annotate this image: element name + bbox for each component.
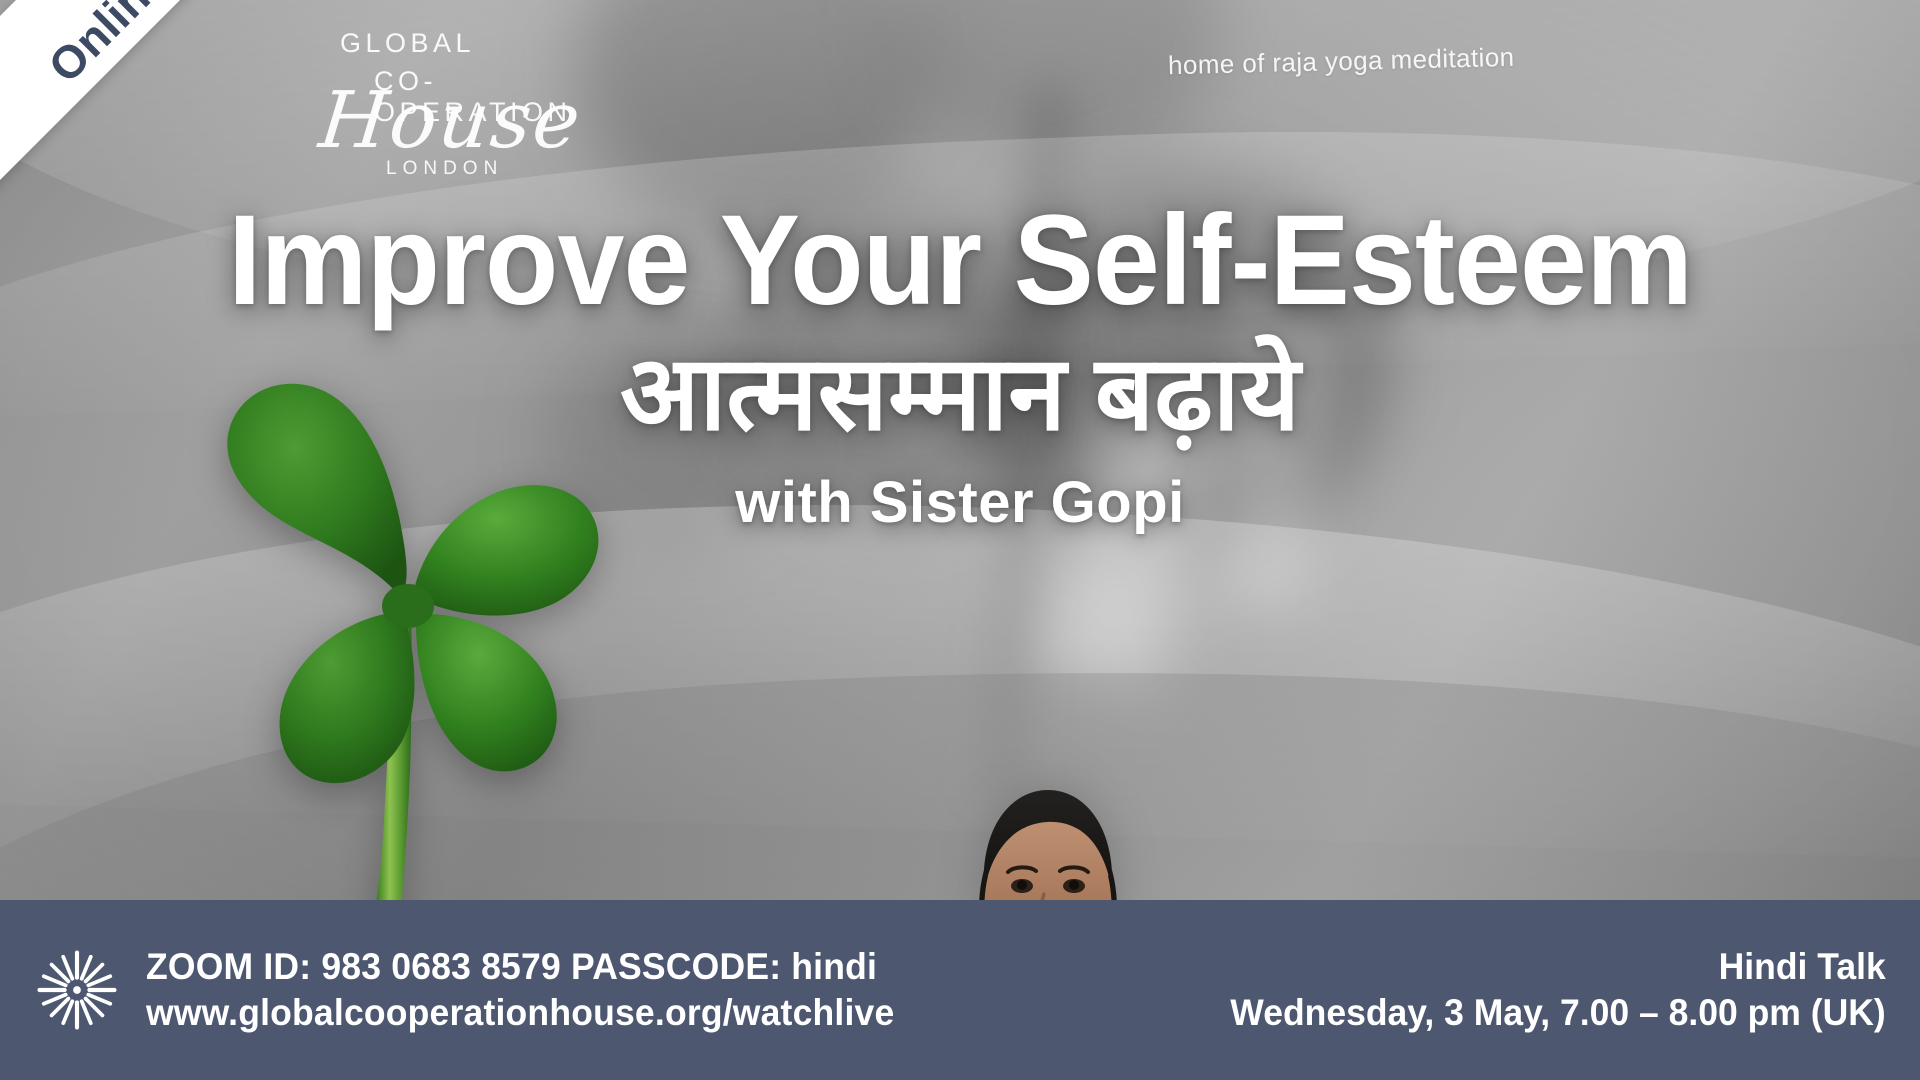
footer-right-group: Hindi Talk Wednesday, 3 May, 7.00 – 8.00…: [1203, 946, 1920, 1034]
sunburst-icon: [34, 947, 120, 1033]
website-url[interactable]: www.globalcooperationhouse.org/watchlive: [146, 992, 894, 1034]
zoom-details: ZOOM ID: 983 0683 8579 PASSCODE: hindi: [146, 946, 894, 988]
title-hindi: आत्मसम्मान बढ़ाये: [0, 333, 1920, 456]
footer-left-group: ZOOM ID: 983 0683 8579 PASSCODE: hindi w…: [0, 946, 926, 1034]
logo-line-london: LONDON: [386, 158, 503, 180]
headline-block: Improve Your Self-Esteem आत्मसम्मान बढ़ा…: [0, 196, 1920, 536]
logo-line-global: GLOBAL: [340, 28, 475, 59]
presenter-name: with Sister Gopi: [0, 469, 1920, 536]
brand-logo: GLOBAL CO-OPERATION House LONDON: [330, 24, 630, 174]
event-poster: Online GLOBAL CO-OPERATION House LONDON …: [0, 0, 1920, 1080]
footer-text-lines: ZOOM ID: 983 0683 8579 PASSCODE: hindi w…: [146, 946, 926, 1034]
footer-bar: ZOOM ID: 983 0683 8579 PASSCODE: hindi w…: [0, 900, 1920, 1080]
talk-type: Hindi Talk: [1231, 946, 1886, 988]
title-english: Improve Your Self-Esteem: [58, 196, 1863, 327]
logo-script-house: House: [315, 76, 586, 166]
talk-schedule: Wednesday, 3 May, 7.00 – 8.00 pm (UK): [1231, 992, 1886, 1034]
